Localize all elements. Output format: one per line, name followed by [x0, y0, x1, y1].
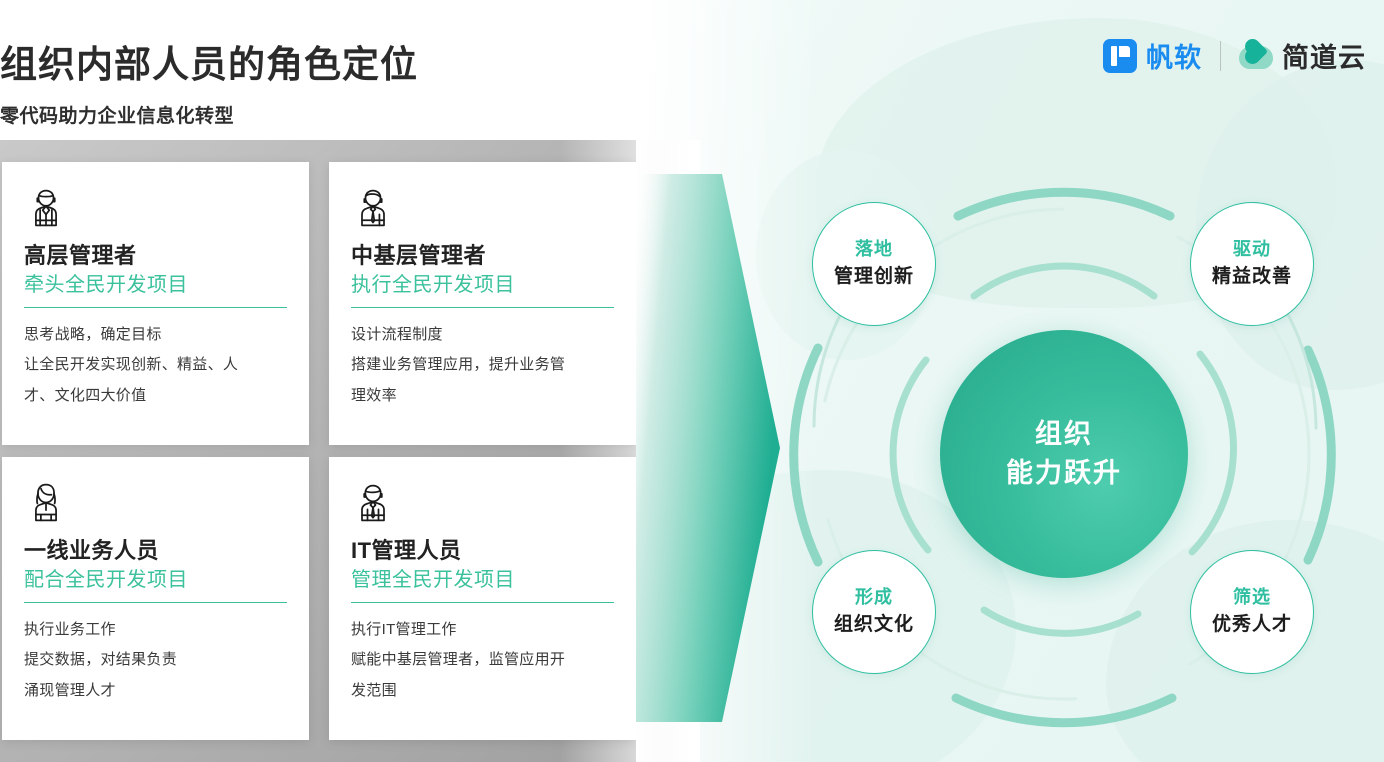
node-verb: 形成 [855, 584, 893, 611]
desc-line: 提交数据，对结果负责 [24, 645, 287, 676]
fanruan-logo-text: 帆软 [1146, 36, 1202, 75]
desc-line: 设计流程制度 [351, 320, 614, 351]
capability-diagram: 组织 能力跃升 落地 管理创新 驱动 精益改善 形成 组织文化 筛选 优秀人才 [760, 178, 1380, 738]
person-it-icon [351, 481, 395, 525]
role-card[interactable]: 高层管理者 牵头全民开发项目 思考战略，确定目标 让全民开发实现创新、精益、人 … [2, 162, 309, 445]
card-divider [24, 602, 287, 603]
role-description: 执行IT管理工作 赋能中基层管理者，监管应用开 发范围 [351, 615, 614, 707]
page-title: 组织内部人员的角色定位 [0, 34, 418, 88]
node-verb: 驱动 [1233, 236, 1271, 263]
role-card[interactable]: 一线业务人员 配合全民开发项目 执行业务工作 提交数据，对结果负责 涌现管理人才 [2, 457, 309, 740]
jiandaoyun-logo-text: 简道云 [1282, 36, 1366, 75]
desc-line: 赋能中基层管理者，监管应用开 [351, 645, 614, 676]
role-description: 设计流程制度 搭建业务管理应用，提升业务管 理效率 [351, 320, 614, 412]
desc-line: 执行IT管理工作 [351, 615, 614, 646]
node-label: 组织文化 [834, 611, 914, 640]
person-executive-icon [24, 186, 68, 230]
outcome-node-talent[interactable]: 筛选 优秀人才 [1190, 550, 1314, 674]
node-label: 优秀人才 [1212, 611, 1292, 640]
role-title: 中基层管理者 [351, 241, 614, 271]
role-subtitle: 配合全民开发项目 [24, 566, 287, 600]
role-card[interactable]: 中基层管理者 执行全民开发项目 设计流程制度 搭建业务管理应用，提升业务管 理效… [329, 162, 636, 445]
desc-line: 才、文化四大价值 [24, 381, 287, 412]
fanruan-logo-icon [1103, 39, 1137, 73]
node-verb: 落地 [855, 236, 893, 263]
node-label: 精益改善 [1212, 263, 1292, 292]
role-title: IT管理人员 [351, 536, 614, 566]
role-subtitle: 牵头全民开发项目 [24, 271, 287, 305]
logo-bar: 帆软 简道云 [1103, 36, 1366, 75]
role-subtitle: 执行全民开发项目 [351, 271, 614, 305]
core-line-1: 组织 [1035, 415, 1093, 454]
flow-arrow-icon [636, 158, 780, 738]
desc-line: 搭建业务管理应用，提升业务管 [351, 350, 614, 381]
role-description: 执行业务工作 提交数据，对结果负责 涌现管理人才 [24, 615, 287, 707]
logo-divider [1220, 41, 1221, 71]
role-title: 高层管理者 [24, 241, 287, 271]
role-card[interactable]: IT管理人员 管理全民开发项目 执行IT管理工作 赋能中基层管理者，监管应用开 … [329, 457, 636, 740]
desc-line: 涌现管理人才 [24, 676, 287, 707]
person-staff-female-icon [24, 481, 68, 525]
role-subtitle: 管理全民开发项目 [351, 566, 614, 600]
outcome-node-landing[interactable]: 落地 管理创新 [812, 202, 936, 326]
person-manager-icon [351, 186, 395, 230]
desc-line: 思考战略，确定目标 [24, 320, 287, 351]
fanruan-logo: 帆软 [1103, 36, 1202, 75]
outcome-node-drive[interactable]: 驱动 精益改善 [1190, 202, 1314, 326]
slide-canvas: 组织内部人员的角色定位 零代码助力企业信息化转型 帆软 简道云 [0, 0, 1384, 762]
desc-line: 让全民开发实现创新、精益、人 [24, 350, 287, 381]
jiandaoyun-logo: 简道云 [1239, 36, 1366, 75]
desc-line: 理效率 [351, 381, 614, 412]
core-circle: 组织 能力跃升 [940, 330, 1188, 578]
page-subtitle: 零代码助力企业信息化转型 [0, 101, 234, 128]
node-label: 管理创新 [834, 263, 914, 292]
card-divider [351, 307, 614, 308]
card-divider [24, 307, 287, 308]
desc-line: 执行业务工作 [24, 615, 287, 646]
desc-line: 发范围 [351, 676, 614, 707]
role-description: 思考战略，确定目标 让全民开发实现创新、精益、人 才、文化四大价值 [24, 320, 287, 412]
role-title: 一线业务人员 [24, 536, 287, 566]
jiandaoyun-logo-icon [1239, 42, 1273, 70]
card-divider [351, 602, 614, 603]
core-line-2: 能力跃升 [1006, 454, 1122, 493]
node-verb: 筛选 [1233, 584, 1271, 611]
outcome-node-culture[interactable]: 形成 组织文化 [812, 550, 936, 674]
